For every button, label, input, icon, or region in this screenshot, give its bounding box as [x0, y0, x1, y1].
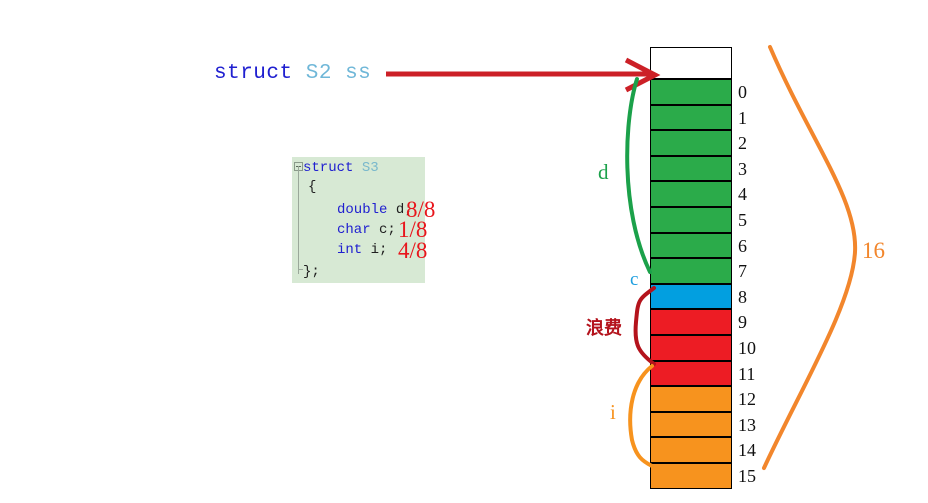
- code-keyword-int: int: [337, 242, 362, 258]
- memory-cell-2: [650, 130, 732, 156]
- annotation-i-size: 4/8: [398, 238, 427, 264]
- code-line-double-d: double d;: [337, 202, 413, 218]
- code-line-close-brace: };: [303, 264, 320, 280]
- memory-cell-4: [650, 181, 732, 207]
- struct-declaration: struct S2 ss: [214, 62, 371, 85]
- memory-index-6: 6: [738, 237, 747, 255]
- memory-cell-10: [650, 335, 732, 361]
- memory-index-7: 7: [738, 262, 747, 280]
- memory-cell-8: [650, 284, 732, 310]
- code-member-i: i;: [371, 242, 388, 258]
- memory-cell-6: [650, 233, 732, 259]
- code-line-struct: struct S3: [303, 160, 379, 176]
- code-line-int-i: int i;: [337, 242, 387, 258]
- memory-index-12: 12: [738, 390, 756, 408]
- memory-index-8: 8: [738, 288, 747, 306]
- memory-cell-5: [650, 207, 732, 233]
- code-fold-bar: [298, 166, 299, 274]
- label-waste: 浪费: [586, 314, 622, 340]
- memory-cell-1: [650, 105, 732, 131]
- code-keyword-double: double: [337, 202, 387, 218]
- memory-cell-13: [650, 412, 732, 438]
- memory-index-14: 14: [738, 441, 756, 459]
- memory-cell-7: [650, 258, 732, 284]
- declaration-keyword: struct: [214, 62, 293, 85]
- memory-index-2: 2: [738, 134, 747, 152]
- brace-i: [630, 366, 652, 466]
- memory-index-11: 11: [738, 365, 755, 383]
- memory-cell-15: [650, 463, 732, 489]
- code-member-c: c;: [379, 222, 396, 238]
- label-field-d: d: [598, 160, 609, 185]
- label-field-i: i: [610, 400, 616, 425]
- declaration-type: S2: [306, 62, 332, 85]
- code-keyword-char: char: [337, 222, 371, 238]
- memory-cell-14: [650, 437, 732, 463]
- memory-index-4: 4: [738, 185, 747, 203]
- memory-cell-11: [650, 361, 732, 387]
- label-total-size: 16: [862, 238, 885, 264]
- memory-index-9: 9: [738, 313, 747, 331]
- label-field-c: c: [630, 269, 638, 291]
- memory-cell-12: [650, 386, 732, 412]
- memory-cell-3: [650, 156, 732, 182]
- pointer-arrow: [386, 60, 655, 90]
- memory-index-1: 1: [738, 109, 747, 127]
- memory-cell-header: [650, 47, 732, 79]
- code-struct-name: S3: [362, 160, 379, 176]
- code-line-open-brace: {: [308, 179, 316, 195]
- brace-d: [627, 79, 650, 272]
- memory-index-10: 10: [738, 339, 756, 357]
- brace-total: [764, 47, 855, 468]
- memory-index-3: 3: [738, 160, 747, 178]
- memory-cell-9: [650, 309, 732, 335]
- memory-index-15: 15: [738, 467, 756, 485]
- declaration-variable: ss: [345, 62, 371, 85]
- memory-index-5: 5: [738, 211, 747, 229]
- code-line-char-c: char c;: [337, 222, 396, 238]
- memory-index-13: 13: [738, 416, 756, 434]
- memory-index-0: 0: [738, 83, 747, 101]
- annotation-overlay: [0, 0, 928, 503]
- code-keyword-struct: struct: [303, 160, 353, 176]
- memory-cell-0: [650, 79, 732, 105]
